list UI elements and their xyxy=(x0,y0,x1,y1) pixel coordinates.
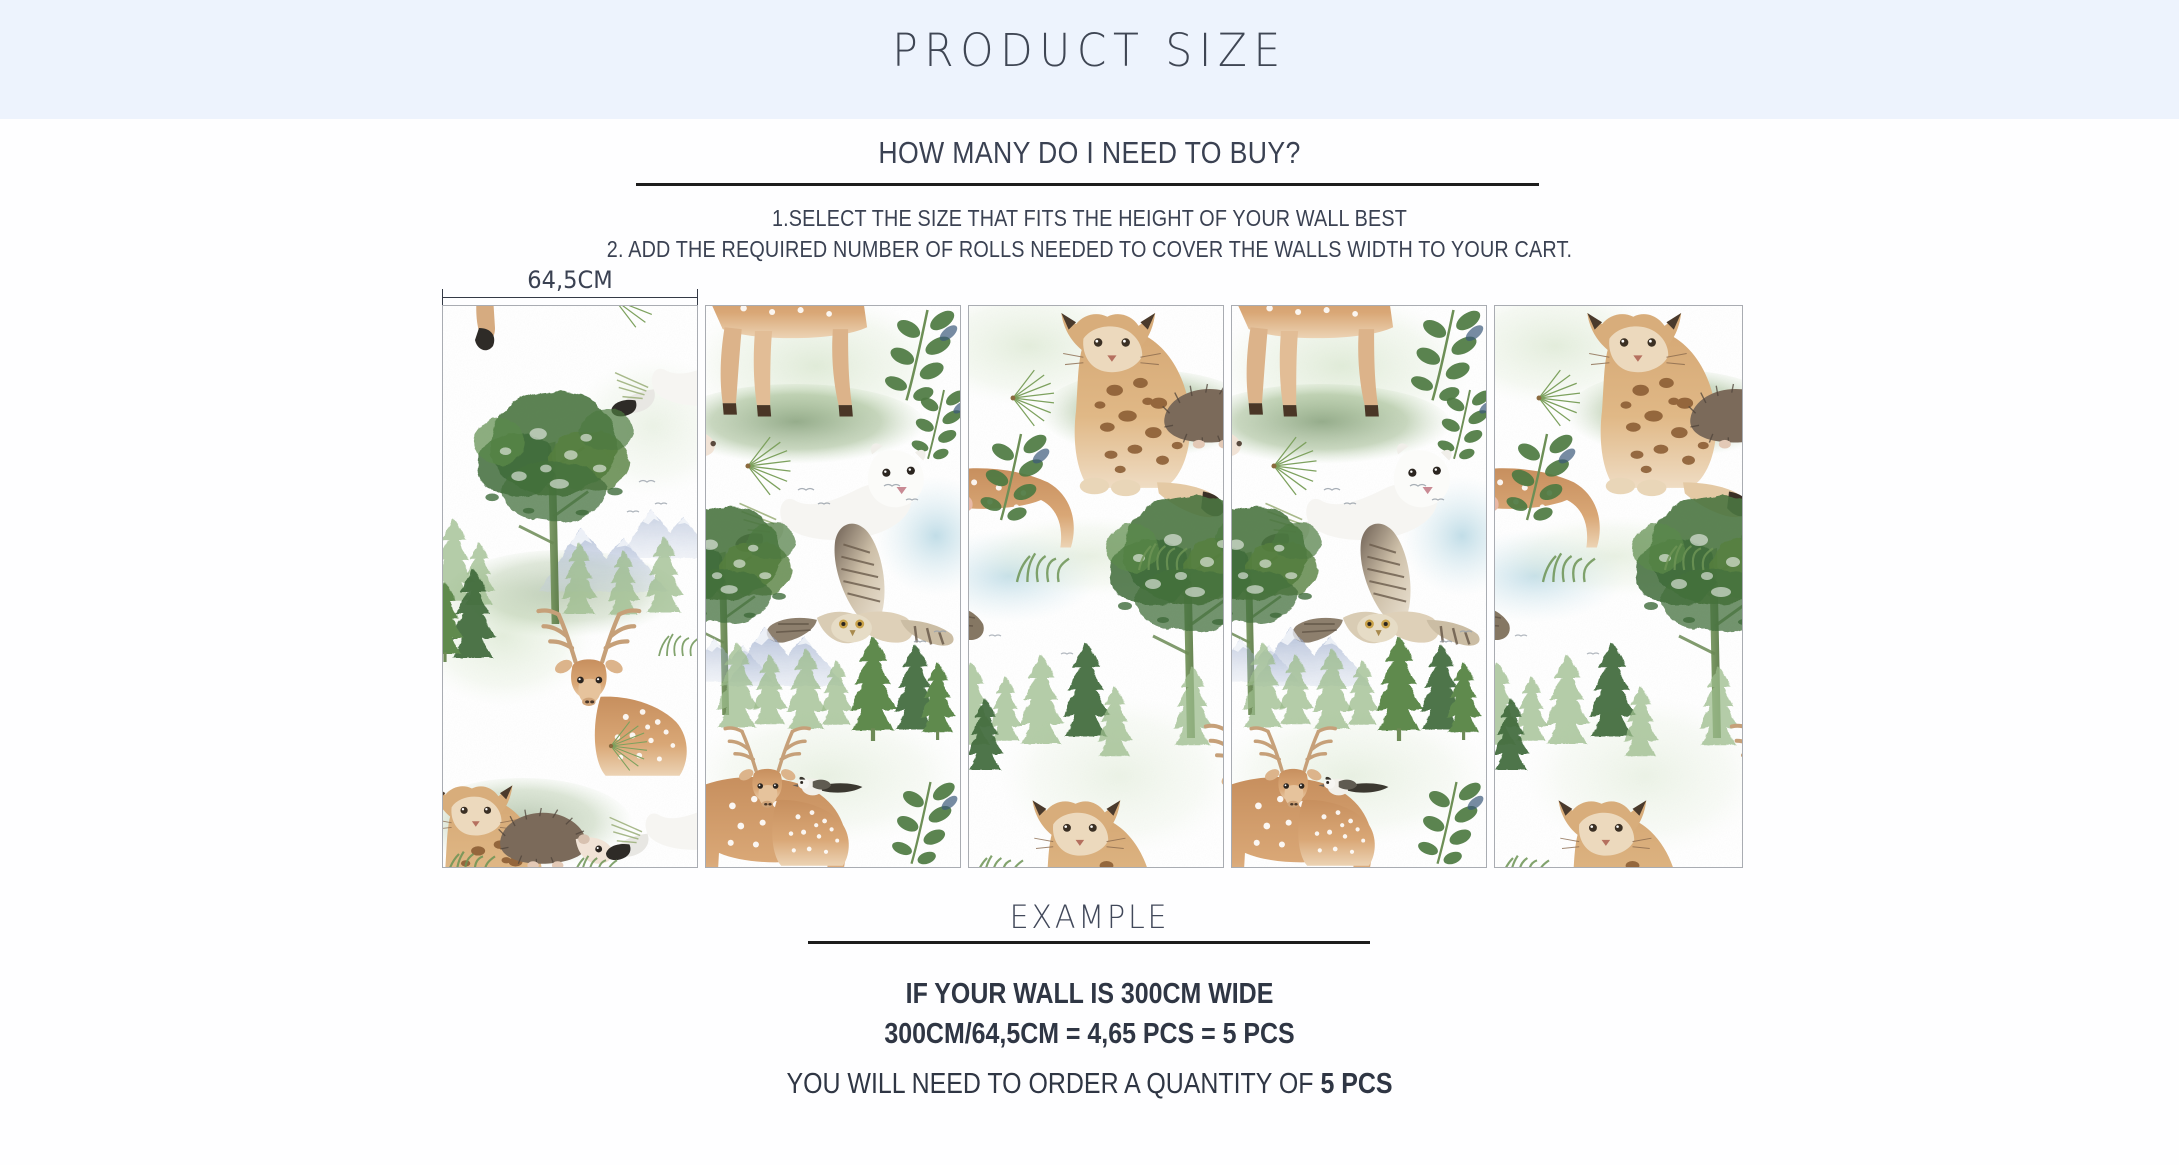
heading-divider xyxy=(636,183,1539,186)
panel-4-artwork xyxy=(1232,306,1486,867)
wallpaper-roll-preview xyxy=(442,305,1738,868)
example-wall-width: IF YOUR WALL IS 300CM WIDE xyxy=(153,978,2027,1011)
roll-panel-4[interactable] xyxy=(1231,305,1487,868)
section-heading: HOW MANY DO I NEED TO BUY? xyxy=(153,135,2027,171)
forest-pattern-c-repeat xyxy=(1495,306,1742,867)
forest-pattern-b-repeat xyxy=(1232,306,1486,867)
panel-3-artwork xyxy=(969,306,1223,867)
roll-panel-2[interactable] xyxy=(705,305,961,868)
example-order-quantity: YOU WILL NEED TO ORDER A QUANTITY OF 5 P… xyxy=(153,1068,2027,1101)
instruction-step-1: 1.SELECT THE SIZE THAT FITS THE HEIGHT O… xyxy=(153,205,2027,232)
forest-pattern-b xyxy=(706,306,960,867)
roll-panel-3[interactable] xyxy=(968,305,1224,868)
instruction-step-2: 2. ADD THE REQUIRED NUMBER OF ROLLS NEED… xyxy=(153,236,2027,263)
forest-pattern-a xyxy=(443,306,697,867)
forest-pattern-c xyxy=(969,306,1223,867)
example-heading: EXAMPLE xyxy=(65,898,2113,936)
panel-1-artwork xyxy=(443,306,697,867)
panel-2-artwork xyxy=(706,306,960,867)
roll-width-label: 64,5CM xyxy=(450,266,691,294)
dimension-line xyxy=(442,297,698,298)
panel-5-artwork xyxy=(1495,306,1742,867)
page-title: PRODUCT SIZE xyxy=(65,24,2113,77)
example-order-pcs: 5 PCS xyxy=(1320,1068,1392,1100)
roll-panel-5[interactable] xyxy=(1494,305,1743,868)
roll-panel-1[interactable] xyxy=(442,305,698,868)
example-divider xyxy=(808,941,1370,944)
example-calculation: 300CM/64,5CM = 4,65 PCS = 5 PCS xyxy=(153,1018,2027,1051)
product-size-page: PRODUCT SIZE HOW MANY DO I NEED TO BUY? … xyxy=(0,0,2179,1165)
dimension-tick-left xyxy=(442,289,443,306)
example-order-prefix: YOU WILL NEED TO ORDER A QUANTITY OF xyxy=(786,1068,1320,1100)
dimension-tick-right xyxy=(697,289,698,306)
